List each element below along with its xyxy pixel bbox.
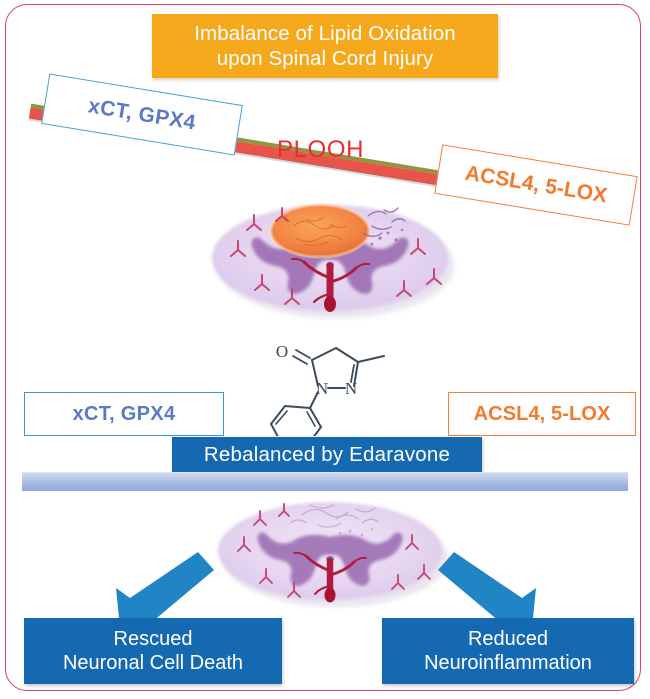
outcome-right-line-2: Neuroinflammation	[424, 652, 592, 674]
atom-label-nitrogen-1: N	[316, 379, 328, 398]
atom-label-oxygen: O	[276, 342, 288, 361]
graphical-abstract-figure: Imbalance of Lipid Oxidation upon Spinal…	[0, 0, 650, 699]
plooh-label: PLOOH	[277, 136, 364, 164]
title-text: Imbalance of Lipid Oxidation upon Spinal…	[194, 21, 455, 71]
outcome-right-text: Reduced Neuroinflammation	[424, 627, 592, 675]
imbalanced-right-label-text: ACSL4, 5-LOX	[463, 162, 609, 209]
title-banner: Imbalance of Lipid Oxidation upon Spinal…	[152, 14, 498, 78]
imbalanced-left-label-text: xCT, GPX4	[86, 94, 197, 135]
outcome-left-line-1: Rescued	[114, 628, 193, 650]
outcome-left-text: Rescued Neuronal Cell Death	[63, 627, 243, 675]
title-line-2: upon Spinal Cord Injury	[217, 47, 434, 70]
rebalanced-right-label-text: ACSL4, 5-LOX	[474, 403, 611, 426]
outcome-left-line-2: Neuronal Cell Death	[63, 652, 243, 674]
healthy-spinal-cord-illustration	[206, 487, 456, 609]
injured-spinal-cord-illustration	[196, 186, 466, 321]
rebalanced-banner: Rebalanced by Edaravone	[172, 437, 482, 472]
rebalanced-banner-text: Rebalanced by Edaravone	[204, 443, 450, 467]
rebalanced-left-label-text: xCT, GPX4	[73, 403, 176, 426]
rebalanced-right-label-box: ACSL4, 5-LOX	[448, 392, 636, 436]
edaravone-chemical-structure: O N N	[252, 326, 414, 436]
imbalanced-left-label-box: xCT, GPX4	[41, 73, 243, 155]
rebalanced-left-label-box: xCT, GPX4	[24, 392, 224, 436]
atom-label-nitrogen-2: N	[345, 379, 357, 398]
outcome-box-reduced: Reduced Neuroinflammation	[382, 618, 634, 684]
outcome-box-rescued: Rescued Neuronal Cell Death	[24, 618, 282, 684]
title-line-1: Imbalance of Lipid Oxidation	[194, 22, 455, 45]
outcome-right-line-1: Reduced	[468, 628, 548, 650]
